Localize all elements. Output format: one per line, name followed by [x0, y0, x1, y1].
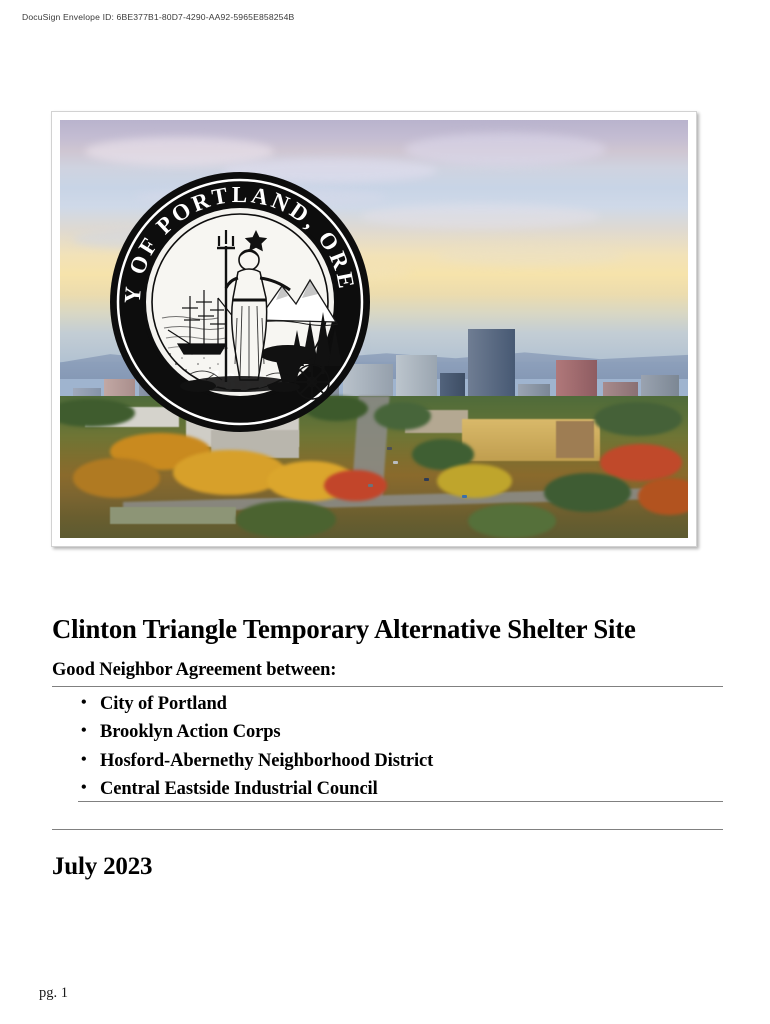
car — [462, 495, 467, 498]
hero-image-frame: CITY OF PORTLAND, OREGON 1851 — [51, 111, 697, 547]
cloud — [361, 204, 600, 229]
cloud — [405, 133, 606, 166]
car — [368, 484, 373, 487]
tree — [374, 402, 431, 430]
list-item: Central Eastside Industrial Council — [78, 775, 433, 803]
car — [393, 461, 398, 464]
tree — [468, 504, 556, 538]
tree — [437, 464, 512, 498]
cloud — [85, 137, 273, 166]
tree — [594, 402, 682, 436]
tree — [236, 501, 336, 538]
divider-above-date — [52, 829, 723, 830]
page-title: Clinton Triangle Temporary Alternative S… — [52, 614, 721, 645]
divider-under-heading — [52, 686, 723, 687]
list-item: City of Portland — [78, 690, 433, 718]
parties-list: City of Portland Brooklyn Action Corps H… — [78, 690, 433, 804]
page-number: pg. 1 — [39, 985, 68, 1002]
building-low — [110, 507, 236, 524]
tree — [324, 470, 387, 501]
car — [424, 478, 429, 481]
tree — [544, 473, 632, 513]
document-date: July 2023 — [52, 853, 152, 881]
list-item: Brooklyn Action Corps — [78, 718, 433, 746]
agreement-heading: Good Neighbor Agreement between: — [52, 660, 336, 681]
car — [387, 447, 392, 450]
city-of-portland-seal-icon: CITY OF PORTLAND, OREGON 1851 — [106, 168, 374, 436]
tree — [73, 458, 161, 498]
divider-under-list — [78, 801, 723, 802]
tree — [638, 478, 688, 515]
docusign-envelope-id: DocuSign Envelope ID: 6BE377B1-80D7-4290… — [22, 12, 294, 22]
building-low — [556, 421, 594, 458]
portland-skyline-photo: CITY OF PORTLAND, OREGON 1851 — [60, 120, 688, 538]
list-item: Hosford-Abernethy Neighborhood District — [78, 747, 433, 775]
